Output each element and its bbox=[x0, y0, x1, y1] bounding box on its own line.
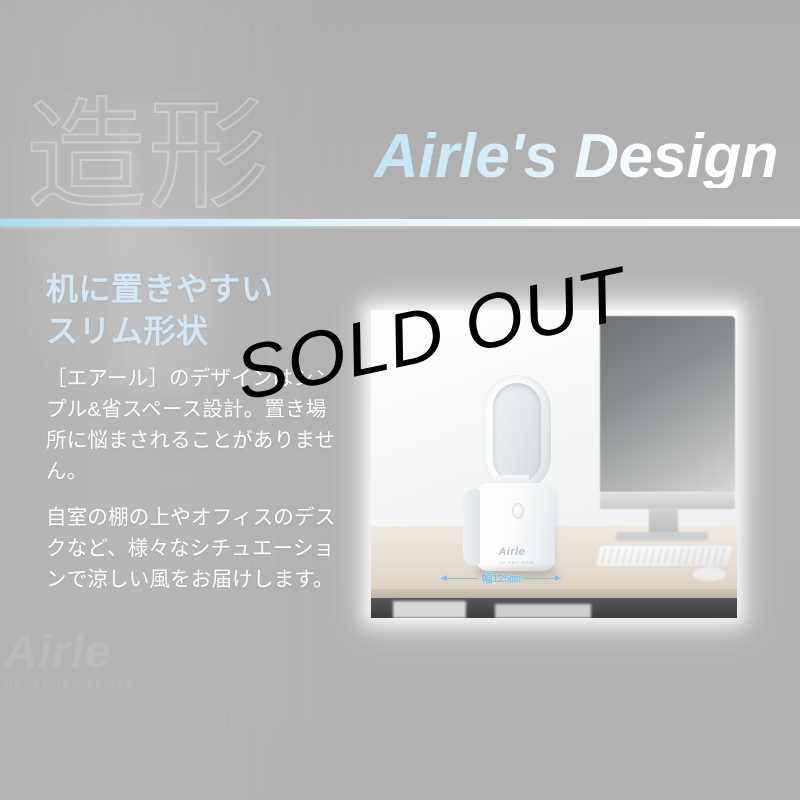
scene-under-object-2 bbox=[495, 604, 590, 618]
background-watermark-kanji: 造形 bbox=[26, 96, 270, 216]
keyboard-keys bbox=[601, 548, 726, 563]
monitor-screen bbox=[600, 316, 735, 492]
mouse bbox=[693, 567, 726, 581]
scene-under-object-1 bbox=[393, 601, 466, 618]
airle-fan-device: Airle HANDY FAN bbox=[459, 375, 569, 575]
device-logo: Airle bbox=[498, 547, 525, 558]
product-banner: 造形 Airle Handy fan series Airle's Design… bbox=[0, 0, 800, 800]
device-power-button-icon bbox=[512, 503, 524, 519]
keyboard bbox=[595, 546, 732, 566]
monitor-chin bbox=[600, 492, 735, 509]
background-watermark-logo: Airle Handy fan series bbox=[4, 628, 135, 690]
watermark-logo-name: Airle bbox=[4, 628, 135, 674]
watermark-logo-subtitle: Handy fan series bbox=[4, 678, 135, 690]
dimension-arrow-right-icon bbox=[523, 578, 561, 579]
monitor-foot bbox=[616, 532, 708, 541]
copy-column: 机に置きやすい スリム形状 ［エアール］のデザインはシンプル&省スペース設計。置… bbox=[46, 268, 336, 596]
monitor-stand bbox=[649, 509, 678, 534]
dimension-label: 幅125㎜ bbox=[481, 570, 520, 586]
header-divider bbox=[0, 219, 800, 226]
device-head-ring-inner bbox=[493, 383, 541, 483]
device-base-side bbox=[463, 489, 479, 565]
body-paragraph-2: 自室の棚の上やオフィスのデスクなど、様々なシチュエーションで涼しい風をお届けしま… bbox=[46, 503, 336, 595]
dimension-annotation: 幅125㎜ bbox=[441, 570, 562, 586]
section-heading-line-1: 机に置きやすい bbox=[46, 268, 336, 310]
brand-title: Airle's Design bbox=[374, 126, 778, 188]
dimension-arrow-left-icon bbox=[441, 578, 479, 579]
device-logo-subtitle: HANDY FAN bbox=[499, 560, 534, 565]
